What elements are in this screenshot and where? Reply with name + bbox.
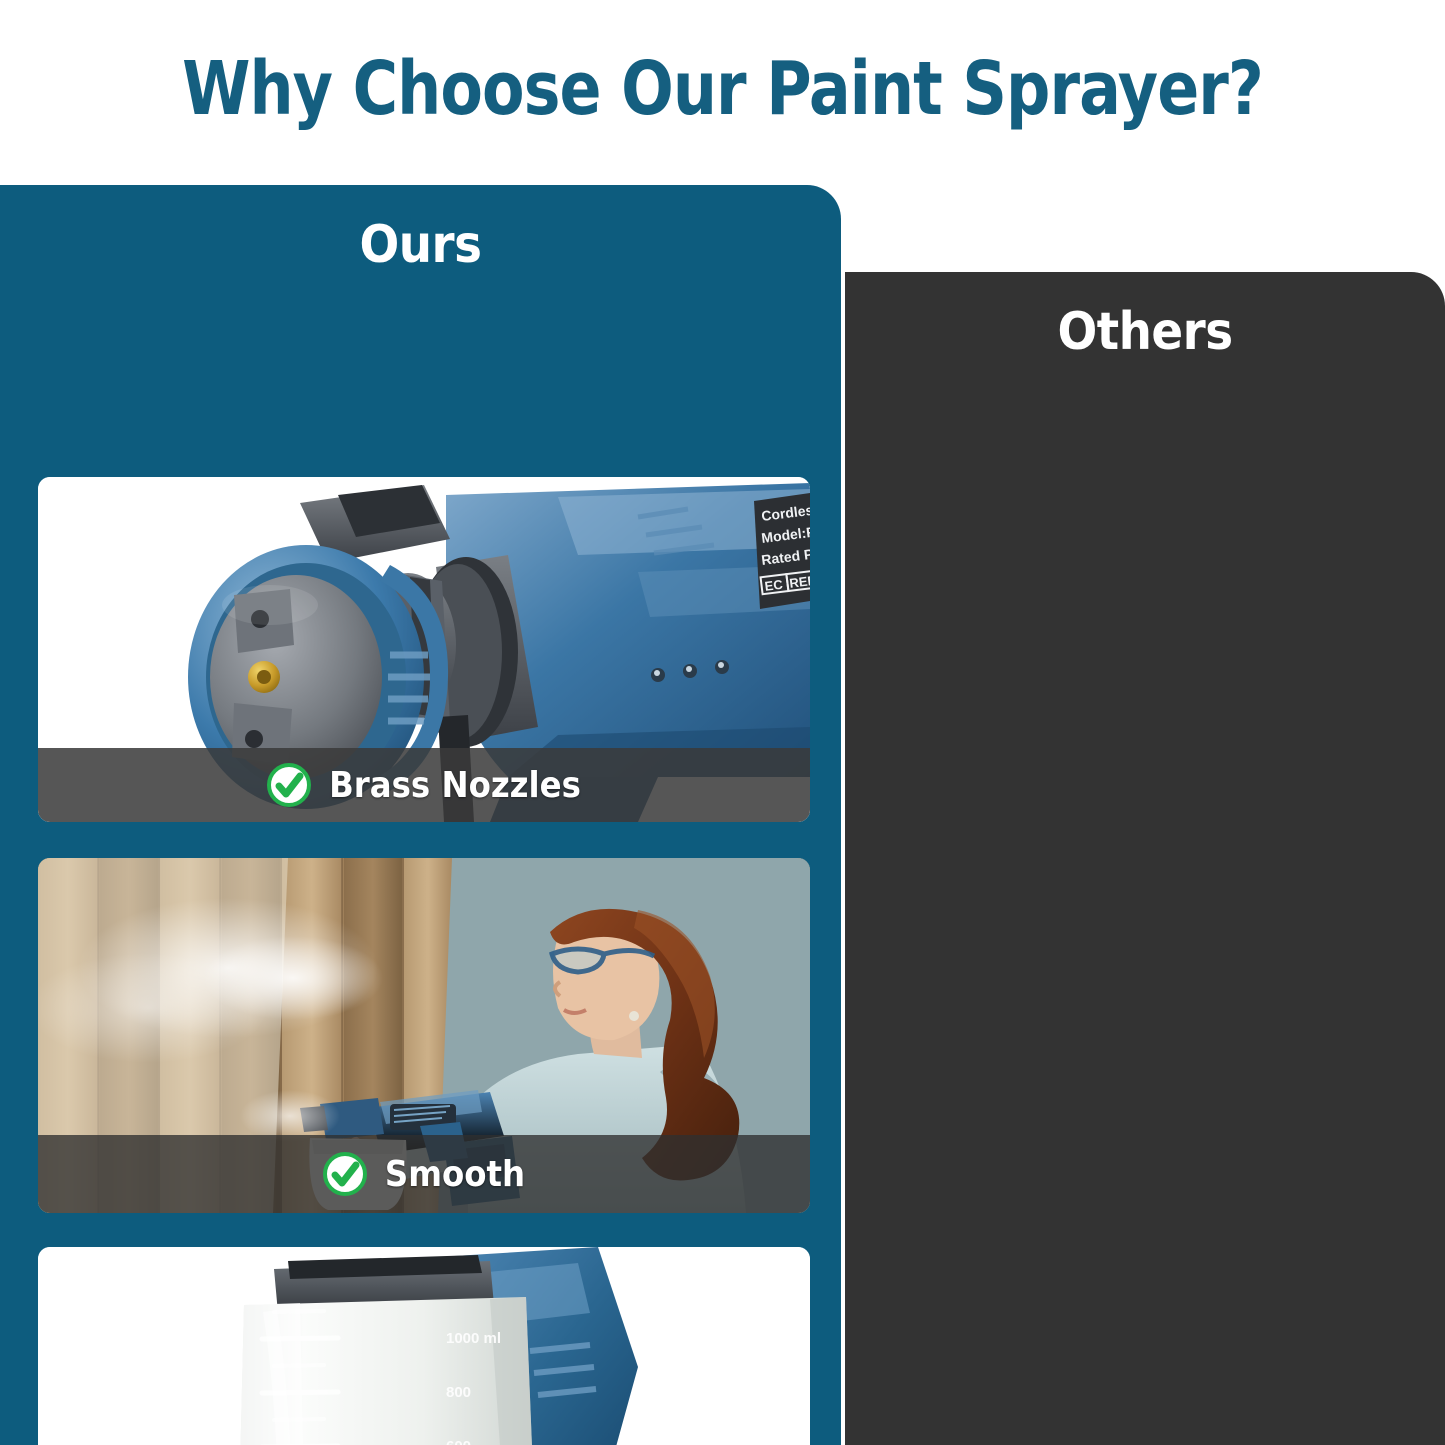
caption-label: Smooth — [385, 1154, 525, 1195]
caption-bar: Smooth — [38, 1135, 810, 1213]
svg-text:600: 600 — [446, 1438, 471, 1445]
card-high-capacity[interactable]: 1000 ml 800 600 400 200 — [38, 1247, 810, 1445]
comparison-infographic: Why Choose Our Paint Sprayer? Ours — [0, 0, 1445, 1445]
card-smooth[interactable]: Smooth — [38, 858, 810, 1213]
svg-text:800: 800 — [446, 1384, 471, 1401]
caption-label: Brass Nozzles — [329, 765, 581, 806]
page-title: Why Choose Our Paint Sprayer? — [51, 46, 1395, 132]
check-circle-icon — [267, 763, 311, 807]
others-panel: Others — [845, 272, 1445, 1445]
svg-text:EC: EC — [764, 577, 784, 594]
ours-heading: Ours — [0, 185, 841, 275]
svg-text:1000 ml: 1000 ml — [446, 1330, 501, 1347]
card-brass-nozzles[interactable]: Cordless Model:F Rated P EC REP — [38, 477, 810, 822]
check-circle-icon — [323, 1152, 367, 1196]
ours-panel: Ours — [0, 185, 841, 1445]
others-heading: Others — [845, 272, 1445, 362]
image-1000ml-container: 1000 ml 800 600 400 200 — [38, 1247, 810, 1445]
caption-bar: Brass Nozzles — [38, 748, 810, 822]
svg-text:REP: REP — [789, 573, 810, 591]
